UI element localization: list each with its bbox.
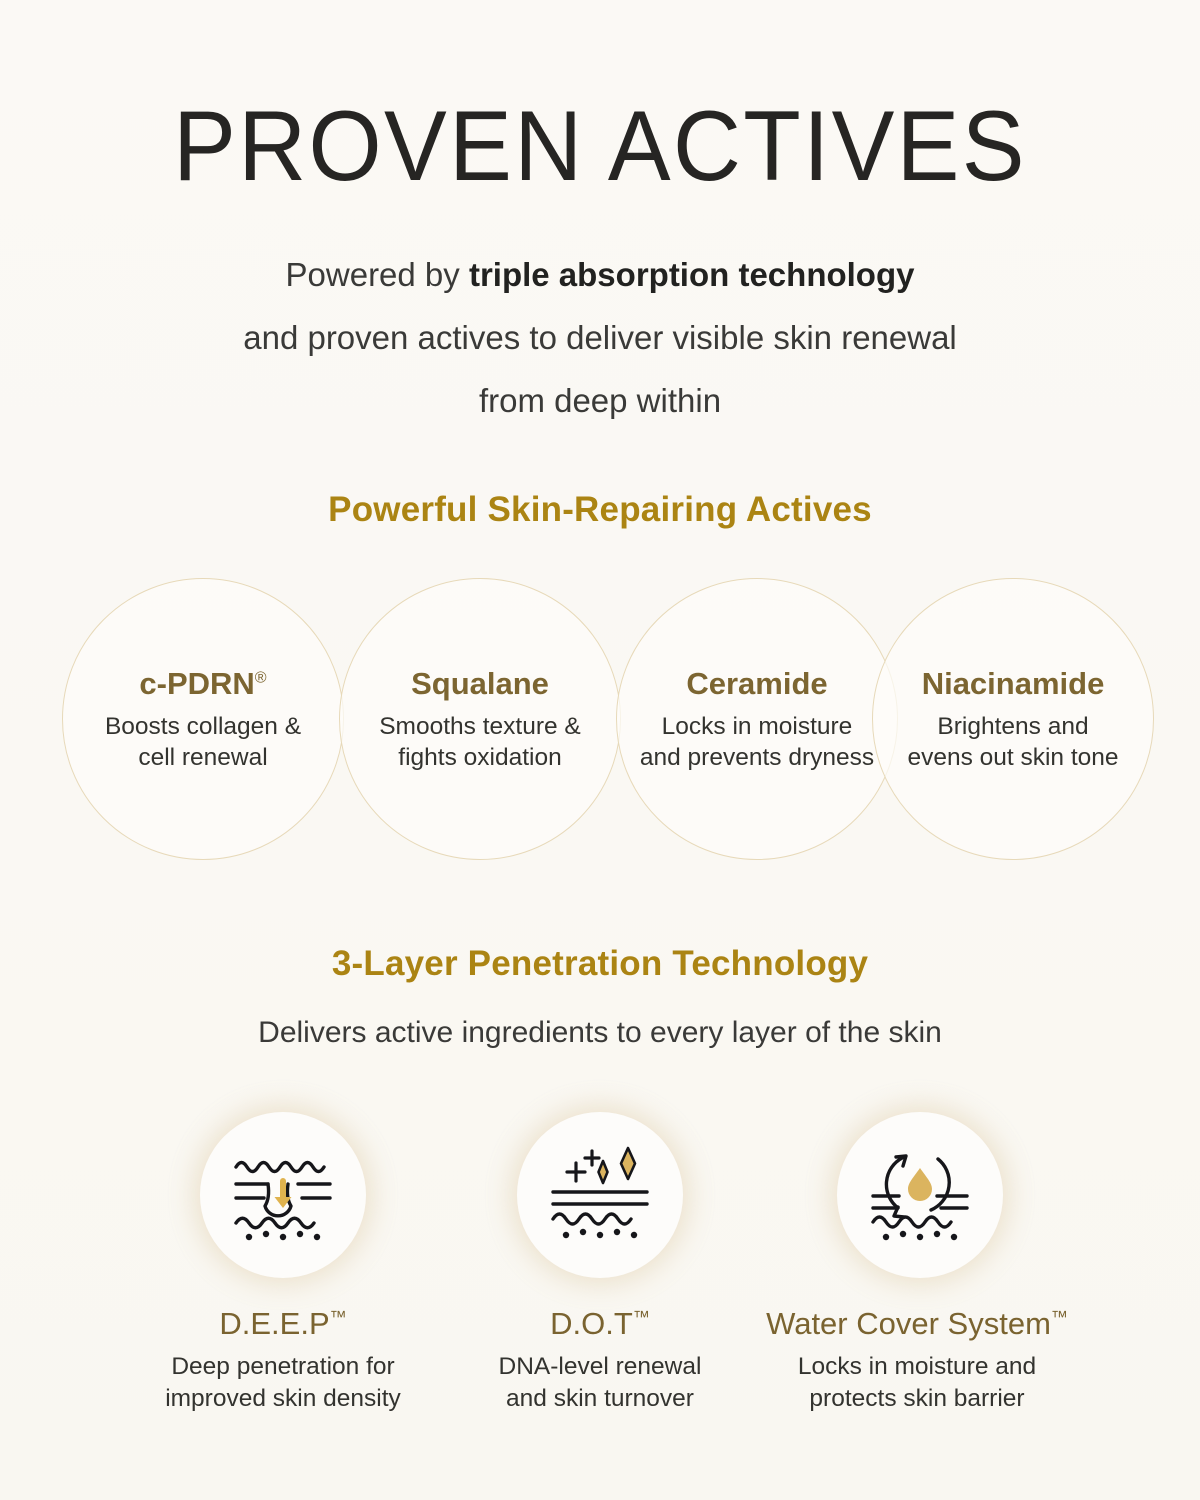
active-name-text: Ceramide <box>686 666 827 701</box>
active-description: Boosts collagen & cell renewal <box>105 711 301 773</box>
technology-name: D.E.E.P™ <box>133 1306 433 1342</box>
infographic-page: PROVEN ACTIVES Powered by triple absorpt… <box>0 0 1200 1500</box>
actives-circle-group: c-PDRN® Boosts collagen & cell renewal S… <box>0 578 1200 868</box>
technology-description: Locks in moisture and protects skin barr… <box>757 1351 1077 1415</box>
skin-sparkle-icon <box>545 1145 655 1245</box>
active-name-text: Niacinamide <box>922 666 1105 701</box>
technology-name-text: Water Cover System <box>766 1306 1051 1341</box>
subtitle-line-2: and proven actives to deliver visible sk… <box>0 306 1200 369</box>
trademark-icon: ™ <box>633 1308 650 1327</box>
water-droplet-icon <box>908 1168 932 1201</box>
active-name-text: c-PDRN <box>139 666 254 701</box>
actives-section-heading: Powerful Skin-Repairing Actives <box>0 490 1200 530</box>
page-subtitle: Powered by triple absorption technology … <box>0 243 1200 432</box>
active-circle-niacinamide: Niacinamide Brightens and evens out skin… <box>872 578 1154 860</box>
technology-description: Deep penetration for improved skin densi… <box>133 1351 433 1415</box>
page-title: PROVEN ACTIVES <box>30 96 1170 195</box>
active-circle-ceramide: Ceramide Locks in moisture and prevents … <box>616 578 898 860</box>
technology-description: DNA-level renewal and skin turnover <box>455 1351 745 1415</box>
active-name: Squalane <box>411 666 549 702</box>
subtitle-line-1: Powered by triple absorption technology <box>0 243 1200 306</box>
technology-name: D.O.T™ <box>455 1306 745 1342</box>
registered-trademark-icon: ® <box>255 669 267 686</box>
active-name: Niacinamide <box>922 666 1105 702</box>
active-description: Brightens and evens out skin tone <box>907 711 1118 773</box>
active-description: Smooths texture & fights oxidation <box>379 711 581 773</box>
subtitle-line-1-emphasis: triple absorption technology <box>469 256 915 293</box>
technology-name: Water Cover System™ <box>757 1306 1077 1342</box>
active-name: Ceramide <box>686 666 827 702</box>
technology-name-text: D.O.T <box>550 1306 633 1341</box>
technology-section-heading: 3-Layer Penetration Technology <box>0 944 1200 984</box>
active-name-text: Squalane <box>411 666 549 701</box>
active-circle-squalane: Squalane Smooths texture & fights oxidat… <box>339 578 621 860</box>
trademark-icon: ™ <box>1051 1308 1068 1327</box>
technology-name-text: D.E.E.P <box>219 1306 329 1341</box>
sparkle-group <box>567 1148 635 1183</box>
technology-badge <box>837 1112 1003 1278</box>
technology-item-group: D.E.E.P™ Deep penetration for improved s… <box>0 1112 1200 1482</box>
water-droplet-cycle-icon <box>865 1145 975 1245</box>
technology-badge <box>517 1112 683 1278</box>
technology-item-dot: D.O.T™ DNA-level renewal and skin turnov… <box>455 1112 745 1415</box>
skin-pore-arrow-icon <box>228 1145 338 1245</box>
active-circle-c-pdrn: c-PDRN® Boosts collagen & cell renewal <box>62 578 344 860</box>
trademark-icon: ™ <box>330 1308 347 1327</box>
subtitle-line-1-prefix: Powered by <box>286 256 469 293</box>
active-description: Locks in moisture and prevents dryness <box>640 711 874 773</box>
technology-item-deep: D.E.E.P™ Deep penetration for improved s… <box>133 1112 433 1415</box>
subtitle-line-3: from deep within <box>0 369 1200 432</box>
technology-section-subtitle: Delivers active ingredients to every lay… <box>0 1016 1200 1050</box>
technology-badge <box>200 1112 366 1278</box>
active-name: c-PDRN® <box>139 666 266 702</box>
technology-item-water-cover-system: Water Cover System™ Locks in moisture an… <box>757 1112 1077 1415</box>
